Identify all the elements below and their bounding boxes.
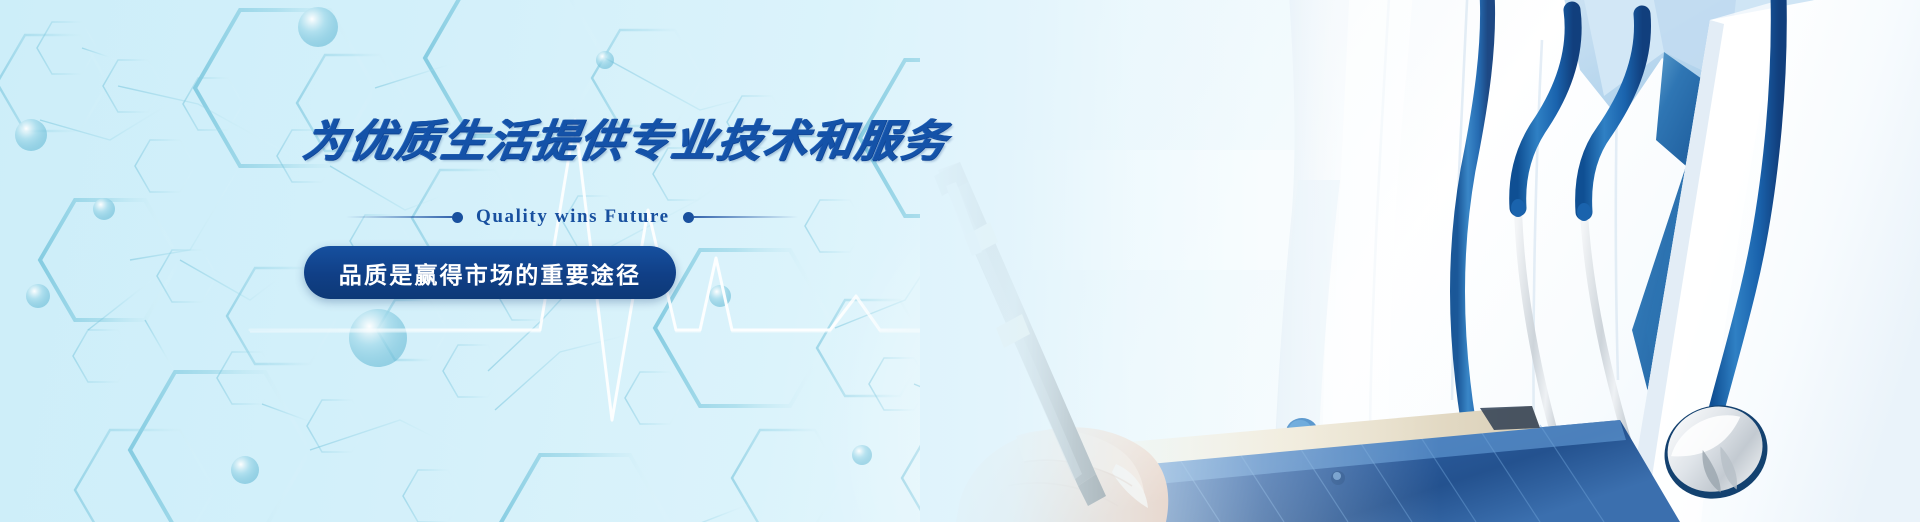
- tagline-rule-left: [346, 216, 452, 218]
- english-tagline: Quality wins Future: [463, 206, 683, 228]
- tagline-rule-right: [694, 216, 798, 218]
- english-tagline-row: Quality wins Future: [346, 206, 866, 228]
- hero-banner: 为优质生活提供专业技术和服务 Quality wins Future 品质是赢得…: [0, 0, 1920, 522]
- slogan-pill-label: 品质是赢得市场的重要途径: [339, 256, 641, 290]
- slogan-pill-button[interactable]: 品质是赢得市场的重要途径: [304, 246, 676, 299]
- doctor-photo: [920, 0, 1920, 522]
- page-title: 为优质生活提供专业技术和服务: [301, 120, 1028, 164]
- tagline-dot-left-icon: [452, 212, 463, 223]
- banner-content: 为优质生活提供专业技术和服务 Quality wins Future 品质是赢得…: [304, 120, 1024, 299]
- tagline-dot-right-icon: [683, 212, 694, 223]
